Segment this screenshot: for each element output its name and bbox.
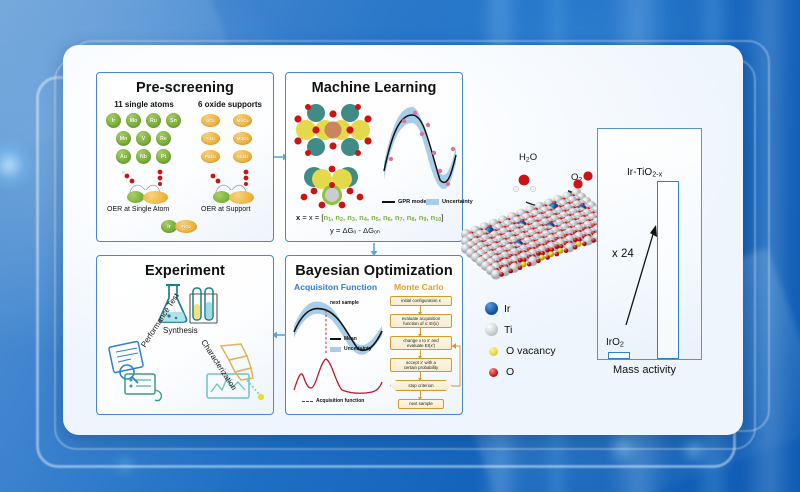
formula-x-symbol: x bbox=[296, 213, 300, 222]
legend-label-o: O bbox=[506, 366, 514, 378]
panel-title-pre-screening: Pre-screening bbox=[97, 80, 273, 96]
caption-oer-single-atom: OER at Single Atom bbox=[107, 206, 169, 213]
label-h2o: H2O bbox=[519, 152, 537, 164]
caption-synthesis: Synthesis bbox=[163, 326, 198, 335]
flow-node-stop-criterion: stop criterion bbox=[390, 380, 452, 391]
gpr-model-plot bbox=[382, 99, 458, 195]
flow-arrow bbox=[420, 328, 421, 334]
formula-feature-list: n1, n2, n3, n4, n5, n6, n7, n8, n9, n10 bbox=[323, 213, 441, 222]
atom-chip-sn: Sn bbox=[166, 113, 181, 128]
panel-title-experiment: Experiment bbox=[97, 263, 273, 279]
structure-model-single-atom bbox=[292, 101, 376, 159]
result-chip-tio2: TiO2 bbox=[175, 220, 197, 233]
legend-gpr-model: GPR model bbox=[382, 199, 428, 205]
atom-chip-mo: Mo bbox=[126, 113, 141, 128]
formula-bracket-open: x = [ bbox=[309, 213, 324, 222]
legend-mean: Mean bbox=[330, 336, 357, 342]
legend-swatch-line bbox=[382, 201, 395, 203]
flow-arrow bbox=[420, 372, 421, 378]
flow-node-next-sample: next sample bbox=[398, 399, 444, 409]
arrow-bayesian-to-experiment bbox=[272, 328, 286, 342]
single-atom-site-marker bbox=[127, 191, 144, 203]
legend-swatch-band bbox=[426, 199, 439, 205]
oxide-chip-sno2: SnO2 bbox=[233, 150, 252, 163]
flow-node-initial-configuration: initial configuration x bbox=[390, 296, 452, 306]
oxide-chip-iro2: IrO2 bbox=[201, 114, 220, 127]
flow-node-evaluate-acquisition: evaluate acquisition function of x: EI(x… bbox=[390, 314, 452, 328]
flow-node-accept-probability: accept x' with a certain probability bbox=[390, 358, 452, 372]
legend-uncertainty: Uncertainty bbox=[330, 346, 372, 352]
oxide-chip-moo2: MoO2 bbox=[233, 114, 252, 127]
improvement-arrow bbox=[620, 221, 666, 327]
panel-bayesian-optimization: Bayesian Optimization Acquisiton Functio… bbox=[285, 255, 463, 415]
oxide-chip-pdo2: PdO2 bbox=[201, 150, 220, 163]
formula-bracket-close: ] bbox=[441, 213, 443, 222]
legend-item-o-vacancy: O vacancy bbox=[487, 345, 556, 357]
legend-label-gpr-model: GPR model bbox=[398, 199, 428, 205]
legend-dot-o-vacancy bbox=[489, 347, 498, 356]
structure-model-support bbox=[292, 165, 376, 213]
legend-dot-ti bbox=[485, 323, 498, 336]
nanoparticle-slab-model bbox=[452, 198, 604, 284]
subheading-monte-carlo: Monte Carlo bbox=[394, 282, 444, 292]
caption-oer-support: OER at Support bbox=[201, 206, 250, 213]
panel-title-bayesian-optimization: Bayesian Optimization bbox=[286, 263, 462, 279]
atom-chip-pt: Pt bbox=[156, 149, 171, 164]
support-slab-marker bbox=[229, 191, 254, 204]
atom-chip-au: Au bbox=[116, 149, 131, 164]
bar-iro2 bbox=[608, 352, 630, 359]
oxide-chip-mno2: MnO2 bbox=[233, 132, 252, 145]
legend-swatch-band bbox=[330, 347, 341, 352]
bar-label-iro2: IrO2 bbox=[606, 337, 624, 349]
oxide-chip-tio2: TiO2 bbox=[201, 132, 220, 145]
annotation-multiplier: x 24 bbox=[612, 248, 634, 260]
mass-activity-chart: IrO2 Ir-TiO2-x x 24 bbox=[597, 128, 702, 360]
panel-experiment: Experiment Synthesis bbox=[96, 255, 274, 415]
atom-chip-re: Re bbox=[156, 131, 171, 146]
chart-axis-label-mass-activity: Mass activity bbox=[613, 364, 676, 376]
flow-feedback-loop bbox=[450, 342, 462, 386]
panel-machine-learning: Machine Learning bbox=[285, 72, 463, 242]
flow-node-change-x: change x to x' and evaluate EI(x') bbox=[390, 336, 452, 350]
figure-canvas: Pre-screening 11 single atoms 6 oxide su… bbox=[0, 0, 800, 492]
legend-label-ir: Ir bbox=[504, 303, 510, 315]
acquisition-function-plot bbox=[292, 356, 384, 398]
formula-feature-vector: x = x = [n1, n2, n3, n4, n5, n6, n7, n8,… bbox=[296, 213, 443, 223]
legend-label-ti: Ti bbox=[504, 324, 512, 336]
legend-item-o: O bbox=[487, 366, 514, 378]
label-next-sample: next sample bbox=[330, 300, 359, 306]
performance-test-icon bbox=[107, 338, 169, 402]
formula-target: y = ΔGₒ - ΔGₒₕ bbox=[330, 226, 380, 235]
legend-item-ti: Ti bbox=[485, 323, 512, 336]
subheading-acquisition-function: Acquisiton Function bbox=[294, 282, 377, 292]
legend-dot-o bbox=[489, 368, 498, 377]
single-atom-site-marker bbox=[213, 191, 230, 203]
subheading-oxide-supports: 6 oxide supports bbox=[187, 100, 273, 109]
subheading-single-atoms: 11 single atoms bbox=[101, 100, 187, 109]
legend-dot-ir bbox=[485, 302, 498, 315]
legend-label-uncertainty: Uncertainty bbox=[344, 346, 372, 352]
atom-chip-mn: Mn bbox=[116, 131, 131, 146]
legend-label-o-vacancy: O vacancy bbox=[506, 345, 556, 357]
atom-chip-nb: Nb bbox=[136, 149, 151, 164]
legend-label-mean: Mean bbox=[344, 336, 357, 342]
flow-arrow bbox=[420, 391, 421, 397]
bar-label-ir-tio2x: Ir-TiO2-x bbox=[627, 167, 662, 179]
legend-item-ir: Ir bbox=[485, 302, 510, 315]
flow-arrow bbox=[420, 306, 421, 312]
atom-chip-v: V bbox=[136, 131, 151, 146]
legend-swatch-dashed-red bbox=[302, 401, 313, 402]
legend-label-acquisition-function: Acquisition function bbox=[316, 398, 364, 404]
flow-arrow bbox=[420, 350, 421, 356]
atom-chip-ru: Ru bbox=[146, 113, 161, 128]
atom-chip-ir: Ir bbox=[106, 113, 121, 128]
legend-acquisition-function: Acquisition function bbox=[302, 398, 364, 404]
legend-swatch-line bbox=[330, 338, 341, 340]
support-slab-marker bbox=[143, 191, 168, 204]
panel-title-machine-learning: Machine Learning bbox=[286, 80, 462, 96]
panel-pre-screening: Pre-screening 11 single atoms 6 oxide su… bbox=[96, 72, 274, 242]
